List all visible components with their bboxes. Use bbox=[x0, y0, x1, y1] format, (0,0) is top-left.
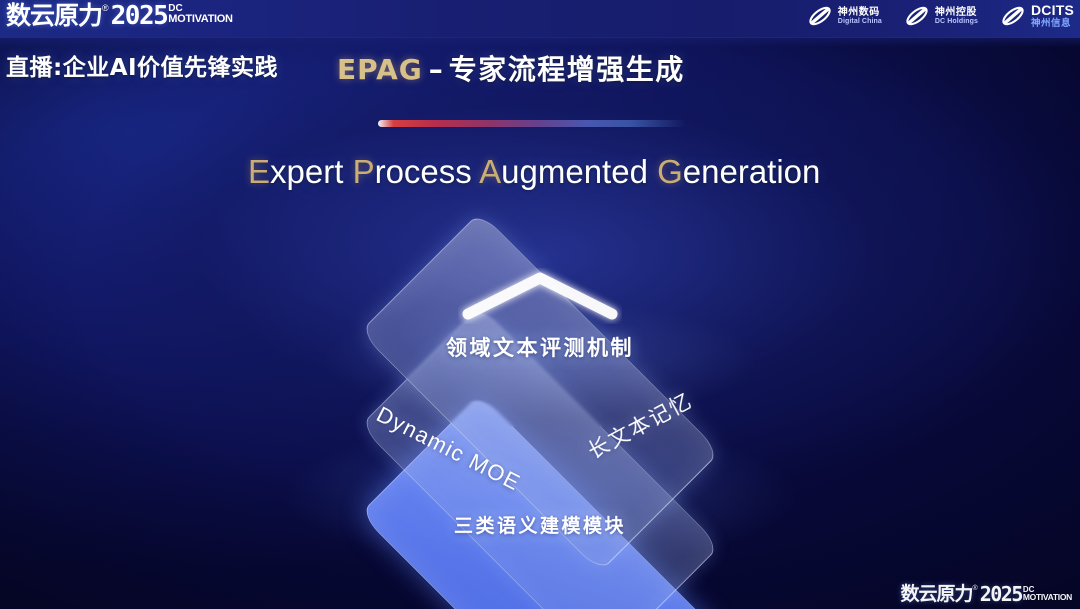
watermark-registered-mark: ® bbox=[973, 585, 978, 593]
logo-dc-holdings-cn: 神州控股 bbox=[935, 7, 978, 18]
diagram-layer-bottom-label: 三类语义建模模块 bbox=[0, 511, 1080, 538]
brand-year: 2025 bbox=[111, 1, 168, 31]
logo-dcits-en: DCITS bbox=[1031, 3, 1074, 18]
page-title: EPAG–专家流程增强生成 bbox=[337, 53, 685, 87]
logo-dc-holdings: 神州控股 DC Holdings bbox=[904, 3, 978, 29]
page-subtitle-part-5: ugmented bbox=[501, 153, 657, 190]
logo-dcits: DCITS 神州信息 bbox=[1000, 3, 1074, 29]
page-subtitle-part-3: rocess bbox=[375, 153, 480, 190]
page-subtitle-part-4: A bbox=[479, 153, 501, 190]
title-gradient-rule bbox=[378, 120, 686, 127]
brand-dc-line1: DC bbox=[168, 4, 232, 13]
isometric-layer-stack: 领域文本评测机制 Dynamic MOE 长文本记忆 三类语义建模模块 bbox=[0, 0, 1080, 609]
swoosh-icon bbox=[807, 3, 833, 29]
brand-registered-mark: ® bbox=[102, 3, 109, 13]
logo-digital-china-en: Digital China bbox=[838, 18, 882, 26]
watermark-dc-motivation: DC MOTIVATION bbox=[1023, 586, 1072, 602]
page-title-acronym: EPAG bbox=[337, 53, 423, 86]
slide-canvas: 领域文本评测机制 Dynamic MOE 长文本记忆 三类语义建模模块 数云原力… bbox=[0, 0, 1080, 609]
brand-logo: 数云原力 ® 2025 DC MOTIVATION bbox=[6, 1, 233, 31]
page-subtitle: Expert Process Augmented Generation bbox=[248, 152, 820, 192]
brand-name-cn: 数云原力 bbox=[6, 1, 102, 31]
logo-digital-china-cn: 神州数码 bbox=[838, 7, 882, 18]
swoosh-icon bbox=[904, 3, 930, 29]
logo-dcits-text: DCITS 神州信息 bbox=[1031, 3, 1074, 29]
page-subtitle-part-1: xpert bbox=[270, 153, 353, 190]
watermark-year: 2025 bbox=[980, 583, 1022, 606]
logo-digital-china-text: 神州数码 Digital China bbox=[838, 7, 882, 26]
watermark-name-cn: 数云原力 bbox=[901, 583, 973, 606]
page-subtitle-part-6: G bbox=[657, 153, 683, 190]
brand-watermark: 数云原力 ® 2025 DC MOTIVATION bbox=[901, 583, 1072, 606]
page-subtitle-part-7: eneration bbox=[683, 153, 821, 190]
logo-dc-holdings-text: 神州控股 DC Holdings bbox=[935, 7, 978, 26]
diagram-layer-top-label: 领域文本评测机制 bbox=[0, 332, 1080, 362]
swoosh-icon bbox=[1000, 3, 1026, 29]
watermark-dc-line2: MOTIVATION bbox=[1023, 593, 1072, 602]
page-subtitle-part-2: P bbox=[353, 153, 375, 190]
corporate-logo-group: 神州数码 Digital China 神州控股 DC Holdings bbox=[807, 3, 1074, 29]
chevron-up-icon bbox=[458, 268, 622, 324]
page-subtitle-part-0: E bbox=[248, 153, 270, 190]
logo-dcits-cn: 神州信息 bbox=[1031, 18, 1074, 29]
live-stream-title: 直播:企业AI价值先锋实践 bbox=[6, 48, 278, 82]
page-title-dash: – bbox=[429, 53, 443, 86]
brand-dc-line2: MOTIVATION bbox=[168, 13, 232, 25]
logo-dc-holdings-en: DC Holdings bbox=[935, 18, 978, 26]
brand-dc-motivation: DC MOTIVATION bbox=[168, 4, 232, 25]
page-title-chinese: 专家流程增强生成 bbox=[449, 53, 685, 86]
logo-digital-china: 神州数码 Digital China bbox=[807, 3, 882, 29]
